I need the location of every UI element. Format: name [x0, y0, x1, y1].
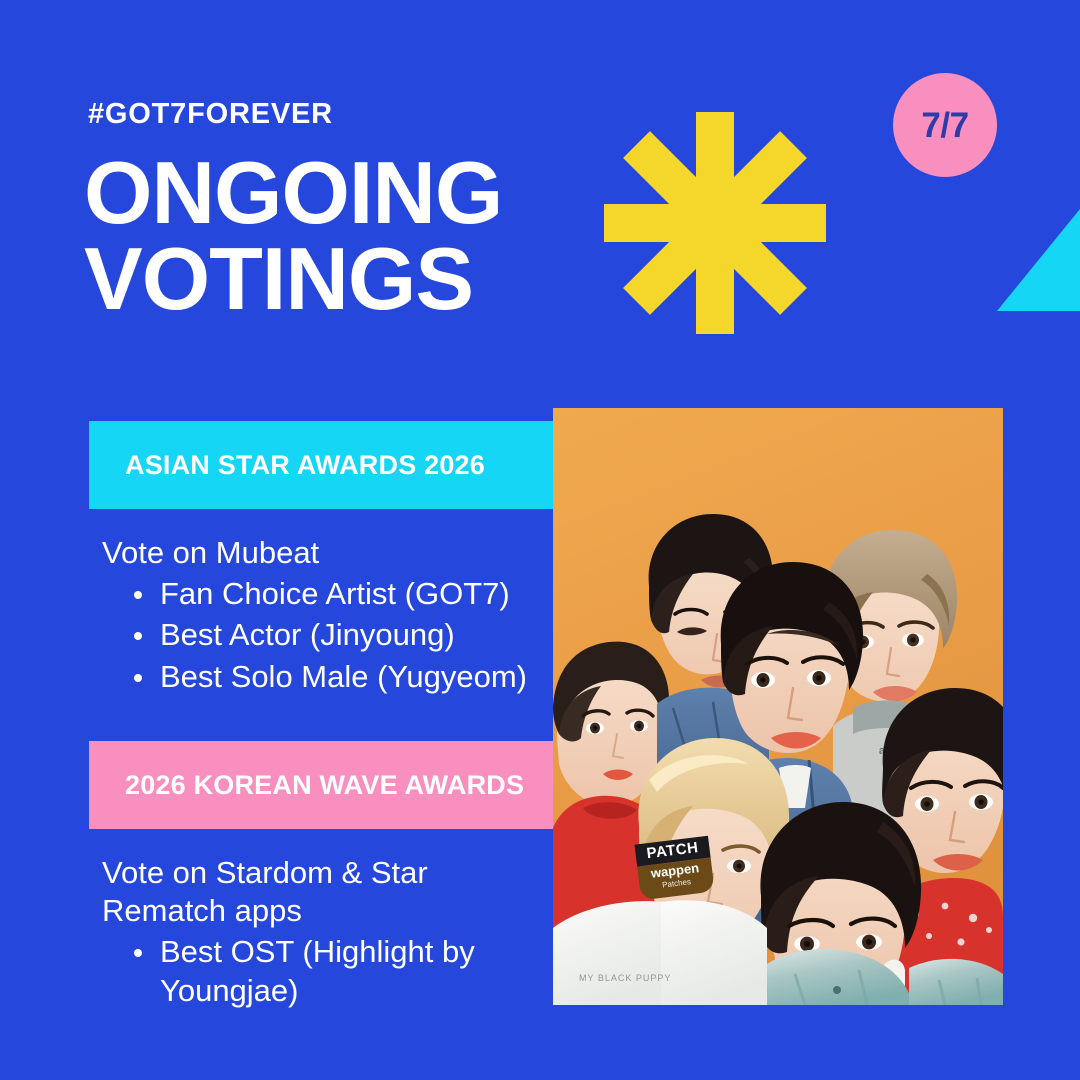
page-title: ONGOING VOTINGS — [84, 150, 604, 322]
list-item: Fan Choice Artist (GOT7) — [102, 574, 554, 614]
vote-instruction: Vote on Mubeat — [102, 534, 554, 572]
patch-jacket-badge: PATCH wappen Patches — [634, 836, 715, 907]
vote-category-list: Fan Choice Artist (GOT7) Best Actor (Jin… — [102, 574, 554, 697]
photo-watermark: MY BLACK PUPPY — [579, 973, 671, 983]
list-item: Best Solo Male (Yugyeom) — [102, 657, 554, 697]
award-details-korean-wave-awards: Vote on Stardom & Star Rematch apps Best… — [102, 854, 554, 1011]
page-title-line-1: ONGOING — [84, 150, 604, 236]
vote-category-list: Best OST (Highlight by Youngjae) — [102, 932, 554, 1011]
award-banner-label: ASIAN STAR AWARDS 2026 — [89, 450, 485, 481]
list-item: Best OST (Highlight by Youngjae) — [102, 932, 554, 1011]
badge-label: 7/7 — [921, 108, 968, 143]
vote-instruction: Vote on Stardom & Star Rematch apps — [102, 854, 554, 930]
page-title-line-2: VOTINGS — [84, 236, 604, 322]
starburst-icon — [600, 108, 830, 338]
list-item: Best Actor (Jinyoung) — [102, 615, 554, 655]
poster-canvas: 7/7 #GOT7FOREVER ONGOING VOTINGS ASIAN S… — [0, 0, 1080, 1080]
corner-triangle-decoration — [997, 209, 1080, 311]
award-details-asian-star-awards: Vote on Mubeat Fan Choice Artist (GOT7) … — [102, 534, 554, 697]
award-banner-asian-star-awards: ASIAN STAR AWARDS 2026 — [89, 421, 553, 509]
group-photo: adidas — [553, 408, 1003, 1005]
member-count-badge: 7/7 — [893, 73, 997, 177]
award-banner-label: 2026 KOREAN WAVE AWARDS — [89, 770, 524, 801]
hashtag-label: #GOT7FOREVER — [88, 100, 333, 129]
award-banner-korean-wave-awards: 2026 KOREAN WAVE AWARDS — [89, 741, 553, 829]
